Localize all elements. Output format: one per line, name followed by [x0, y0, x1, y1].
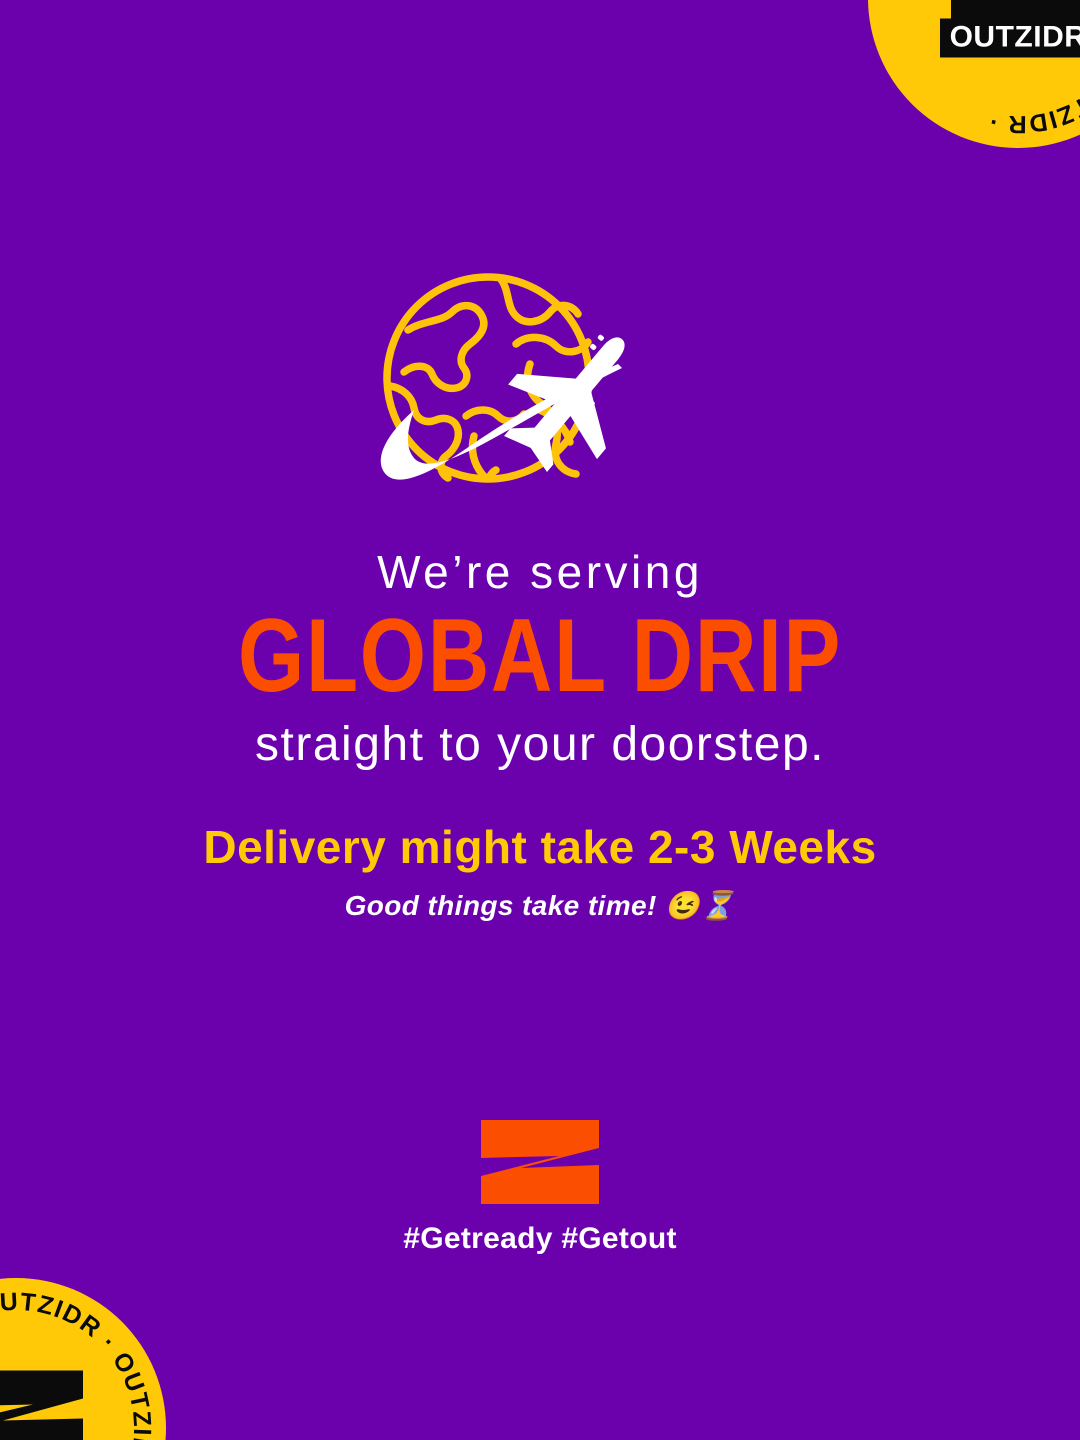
delivery-subtext: Good things take time! 😉⏳ [0, 889, 1080, 922]
sticker-wordmark-top-right: OUTZIDR [940, 19, 1080, 58]
sticker-core-bottom-left: OUTZIDR [0, 1369, 100, 1440]
footer-hashtags: #Getready #Getout [403, 1222, 677, 1256]
headline-tail: straight to your doorstep. [0, 720, 1080, 770]
outzidr-sticker-bottom-left: OUTZIDR · OUTZIDR · OUTZIDR · OUTZIDR · … [0, 1278, 166, 1440]
globe-with-airplane-icon [370, 268, 710, 508]
headline-hero: GLOBAL DRIP [97, 604, 983, 708]
z-logo-icon [0, 1369, 91, 1440]
headline-block: We’re serving GLOBAL DRIP straight to yo… [0, 548, 1080, 771]
headline-kicker: We’re serving [0, 548, 1080, 596]
delivery-note-block: Delivery might take 2-3 Weeks Good thing… [0, 822, 1080, 922]
sticker-core-top-right: OUTZIDR [934, 0, 1080, 58]
promo-poster: OUTZIDR · OUTZIDR · OUTZIDR · OUTZIDR · … [0, 0, 1080, 1440]
z-logo-icon [479, 1118, 601, 1206]
delivery-estimate-text: Delivery might take 2-3 Weeks [0, 822, 1080, 873]
footer-brand-block: #Getready #Getout [0, 1118, 1080, 1256]
outzidr-sticker-top-right: OUTZIDR · OUTZIDR · OUTZIDR · OUTZIDR · … [868, 0, 1080, 148]
hero-illustration [0, 268, 1080, 508]
